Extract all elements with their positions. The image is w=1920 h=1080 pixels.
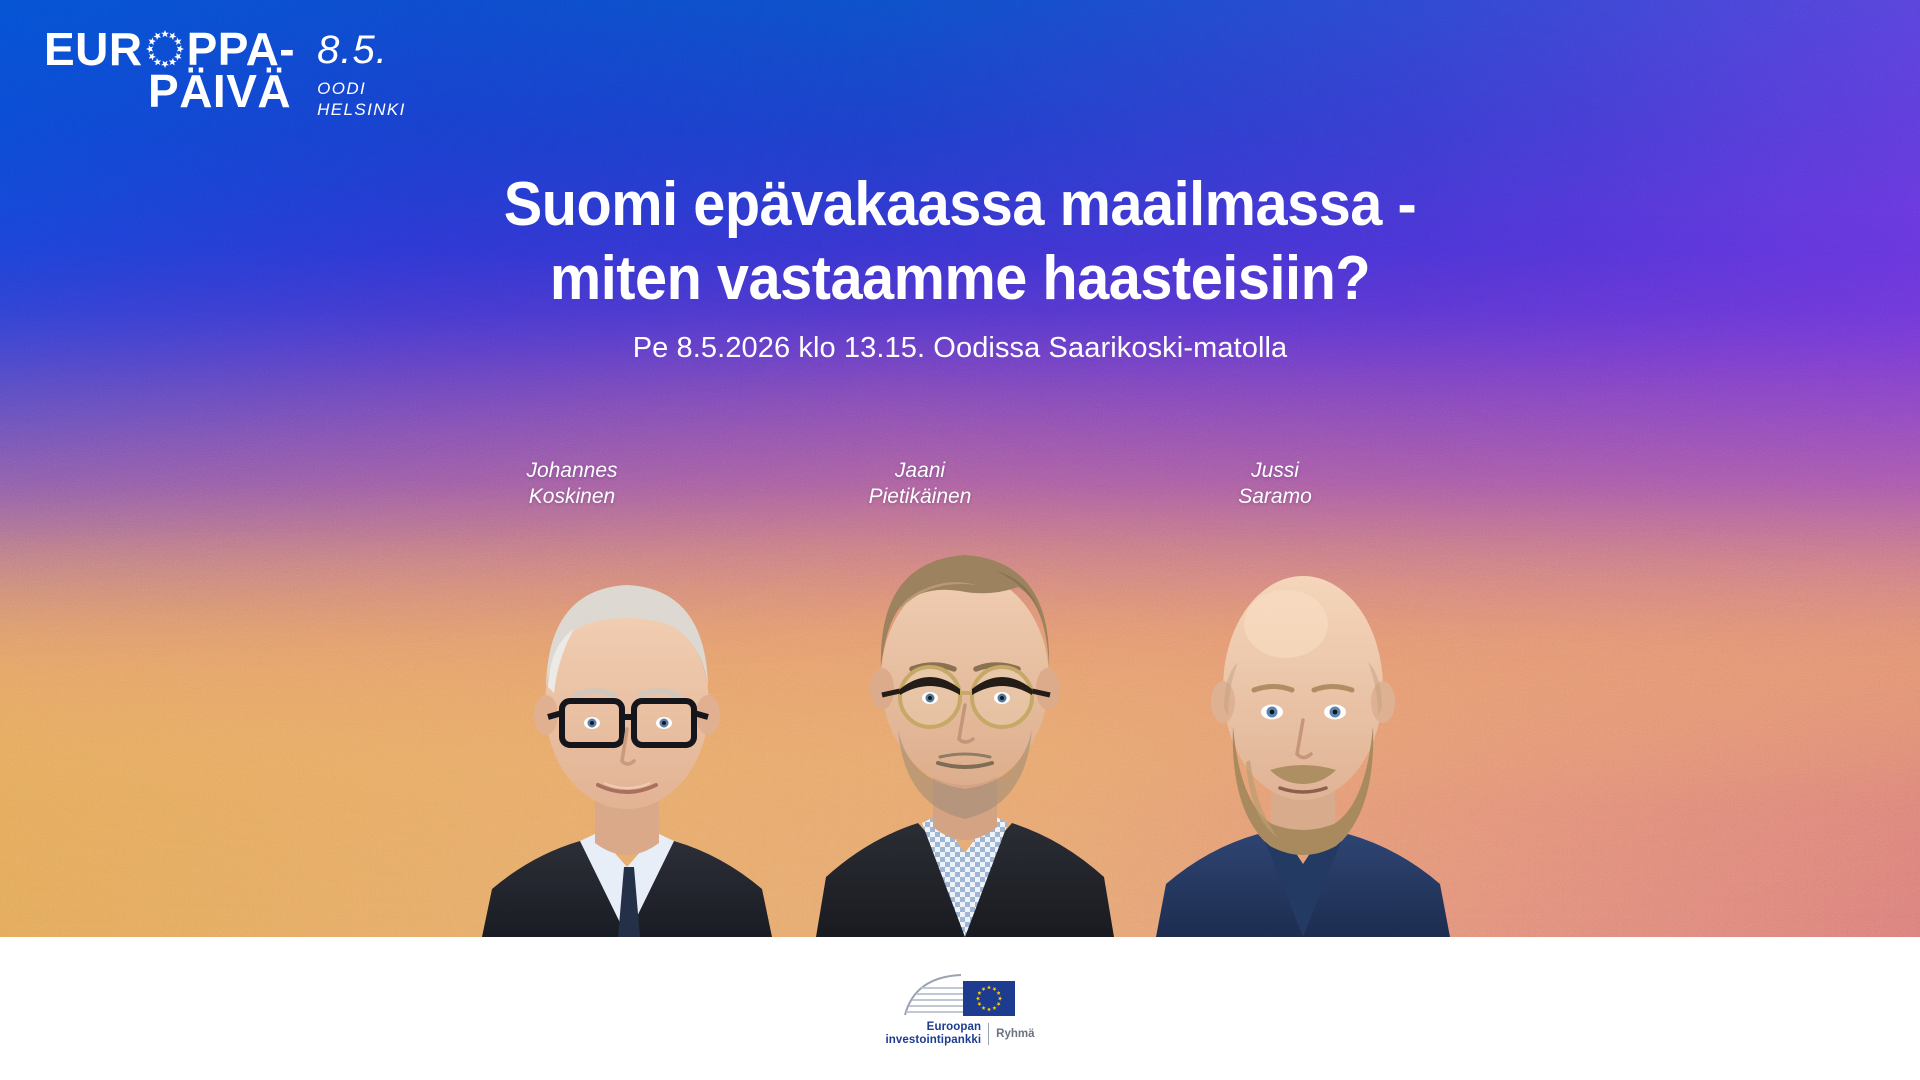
footer-bar: Euroopan investointipankki Ryhmä bbox=[0, 937, 1920, 1080]
eib-org-name: Euroopan investointipankki bbox=[886, 1021, 982, 1046]
poster-canvas: EUR bbox=[0, 0, 1920, 1080]
portrait-johannes-koskinen bbox=[462, 537, 792, 937]
eib-wordmark: Euroopan investointipankki Ryhmä bbox=[886, 1021, 1035, 1046]
eib-divider bbox=[988, 1023, 989, 1045]
eib-org-line-1: Euroopan bbox=[886, 1021, 982, 1034]
portrait-jussi-saramo bbox=[1138, 512, 1468, 937]
portrait-jaani-pietikainen bbox=[800, 467, 1130, 937]
eib-logo: Euroopan investointipankki Ryhmä bbox=[886, 971, 1035, 1046]
eib-org-line-2: investointipankki bbox=[886, 1034, 982, 1047]
speaker-portraits bbox=[0, 0, 1920, 937]
eib-arc-flag-icon bbox=[901, 971, 1019, 1017]
eib-group-label: Ryhmä bbox=[996, 1028, 1034, 1040]
